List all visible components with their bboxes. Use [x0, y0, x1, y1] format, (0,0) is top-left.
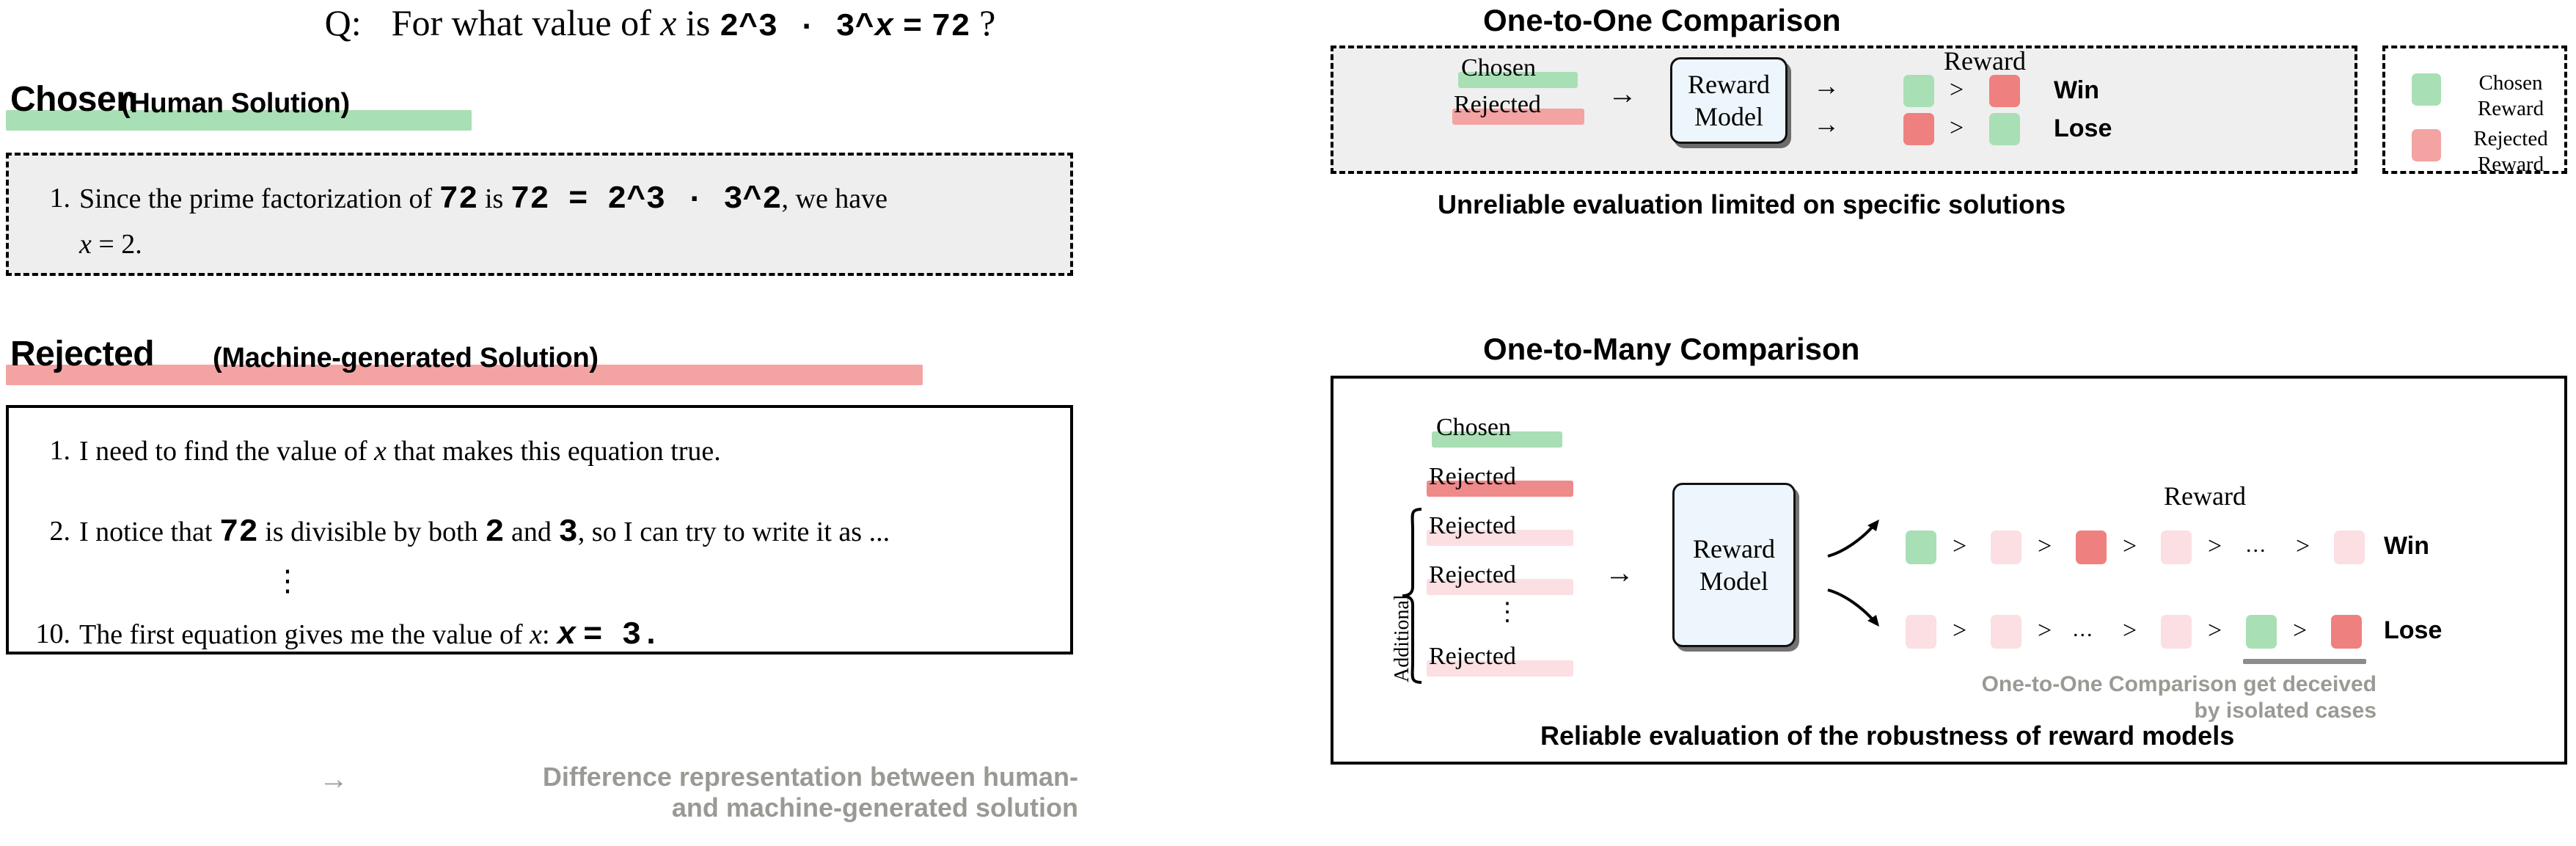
legend-chosen-line-2: Reward: [2456, 96, 2566, 122]
o2m-rejected-label-3: Rejected: [1429, 561, 1516, 589]
o2o-input-arrow-icon: →: [1608, 76, 1637, 111]
rejected-heading: Rejected: [10, 334, 154, 374]
o2m-lose-operator-4: >: [2208, 617, 2222, 645]
rejected-step-line-10: The first equation gives me the value of…: [79, 618, 661, 652]
rejected-step-number-2: 2.: [26, 515, 70, 547]
difference-note: Difference representation between human-…: [345, 762, 1078, 823]
rejected-step10-colon: :: [542, 619, 550, 650]
chosen-step-text-b: is: [485, 183, 503, 214]
legend-rejected-swatch: [2412, 129, 2441, 161]
rejected-step10-variable-2: x: [557, 617, 576, 654]
o2o-reward-model-box: Reward Model: [1670, 57, 1788, 144]
rejected-step1-text-a: I need to find the value of: [79, 436, 367, 467]
chosen-step-tt-1: 72: [439, 181, 478, 218]
o2m-win-swatch-2: [1991, 530, 2021, 564]
o2o-reward-model-line-1: Reward: [1688, 68, 1770, 101]
chosen-step-line-2: x = 2.: [79, 227, 142, 261]
o2o-win-arrow-icon: →: [1813, 70, 1840, 101]
o2m-win-operator-5: >: [2296, 533, 2310, 561]
rejected-step2-text-d: , so I can try to write it as ...: [578, 517, 890, 547]
o2o-win-chosen-swatch: [1903, 75, 1934, 107]
o2m-rejected-label-1: Rejected: [1429, 463, 1516, 491]
one-to-many-title: One-to-Many Comparison: [1483, 332, 1859, 367]
o2m-win-swatch-6: [2334, 530, 2365, 564]
o2m-lose-operator-1: >: [1953, 617, 1966, 645]
rejected-step10-variable: x: [530, 619, 542, 650]
o2m-rejected-label-2: Rejected: [1429, 512, 1516, 540]
difference-arrow-icon: →: [319, 763, 348, 796]
legend-rejected-line-1: Rejected: [2456, 126, 2566, 152]
rejected-step2-text-a: I notice that: [79, 517, 212, 547]
one-to-one-caption: Unreliable evaluation limited on specifi…: [1438, 189, 2065, 220]
right-panel: One-to-One Comparison Chosen Rejected → …: [1320, 0, 2576, 846]
chosen-step-line-1: Since the prime factorization of 72 is 7…: [79, 182, 888, 216]
chosen-step-text-a: Since the prime factorization of: [79, 183, 432, 214]
one-to-many-caption: Reliable evaluation of the robustness of…: [1540, 721, 2234, 751]
o2m-input-arrow-icon: →: [1605, 555, 1634, 590]
o2o-lose-arrow-icon: →: [1813, 109, 1840, 139]
rejected-step-number-1: 1.: [26, 434, 70, 467]
o2o-reward-model-line-2: Model: [1694, 101, 1763, 133]
o2m-rejected-label-4: Rejected: [1429, 643, 1516, 671]
o2m-lose-swatch-6: [2331, 615, 2362, 649]
o2m-lose-operator-5: >: [2293, 617, 2307, 645]
legend-rejected-line-2: Reward: [2456, 152, 2566, 178]
o2o-reward-title: Reward: [1944, 45, 2026, 76]
rejected-step2-text-c: and: [511, 517, 552, 547]
o2o-win-operator: >: [1950, 76, 1964, 104]
rejected-step10-value: = 3.: [583, 617, 661, 654]
o2o-lose-rejected-swatch: [1903, 113, 1934, 145]
o2m-inputs-ellipsis: ⋮: [1495, 600, 1520, 625]
rejected-step-line-1: I need to find the value of x that makes…: [79, 434, 721, 468]
rejected-steps-ellipsis: ⋮: [273, 566, 302, 596]
legend-rejected-label: Rejected Reward: [2456, 126, 2566, 178]
o2m-win-operator-4: >: [2208, 533, 2222, 561]
o2m-reward-model-line-2: Model: [1699, 565, 1768, 597]
question-qmark: ?: [979, 2, 995, 43]
one-to-one-title: One-to-One Comparison: [1483, 3, 1841, 38]
question-variable-2: x: [874, 9, 893, 45]
rejected-step1-text-b: that makes this equation true.: [393, 436, 720, 467]
chosen-step-text-c: , we have: [782, 183, 888, 214]
question-variable-1: x: [660, 2, 676, 43]
o2o-chosen-label: Chosen: [1461, 54, 1536, 82]
rejected-subheading: (Machine-generated Solution): [213, 343, 599, 374]
o2o-win-rejected-swatch: [1989, 75, 2020, 107]
o2m-lose-swatch-1: [1906, 615, 1936, 649]
o2m-win-swatch-3: [2076, 530, 2107, 564]
o2m-deceive-note-line-1: One-to-One Comparison get deceived: [1966, 671, 2376, 698]
o2m-reward-model-line-1: Reward: [1693, 533, 1775, 565]
chosen-heading: Chosen: [10, 79, 137, 120]
o2m-win-arrow-icon: [1825, 514, 1884, 559]
question-value: 72: [932, 9, 970, 45]
o2m-deceive-note: One-to-One Comparison get deceived by is…: [1966, 671, 2376, 724]
o2m-win-operator-2: >: [2038, 533, 2052, 561]
o2o-lose-operator: >: [1950, 114, 1964, 142]
legend-chosen-line-1: Chosen: [2456, 70, 2566, 96]
rejected-step2-tt-3: 3: [558, 514, 577, 551]
o2m-lose-swatch-4: [2161, 615, 2192, 649]
legend-chosen-swatch: [2412, 73, 2441, 106]
o2m-lose-outcome: Lose: [2384, 616, 2442, 645]
difference-note-line-2: and machine-generated solution: [345, 792, 1078, 823]
rejected-step-line-2: I notice that 72 is divisible by both 2 …: [79, 515, 890, 550]
question-expression: 2^3 · 3^: [720, 9, 874, 45]
question-equals: =: [903, 9, 922, 45]
o2o-win-outcome: Win: [2054, 76, 2099, 105]
chosen-step-number: 1.: [26, 182, 70, 214]
rejected-step2-text-b: is divisible by both: [265, 517, 477, 547]
figure-root: Q: For what value of x is 2^3 · 3^x = 72…: [0, 0, 2576, 846]
o2m-lose-swatch-2: [1991, 615, 2021, 649]
question-text-mid: is: [686, 2, 710, 43]
o2o-lose-outcome: Lose: [2054, 114, 2112, 143]
o2o-rejected-label: Rejected: [1454, 91, 1541, 119]
o2m-win-outcome: Win: [2384, 532, 2429, 561]
o2m-reward-model-box: Reward Model: [1672, 483, 1796, 647]
o2m-lose-operator-3: >: [2123, 617, 2137, 645]
o2m-lose-swatch-5: [2246, 615, 2277, 649]
rejected-step10-text-a: The first equation gives me the value of: [79, 619, 523, 650]
chosen-step-value: = 2.: [98, 229, 142, 260]
chosen-step-tt-2: 72 = 2^3 · 3^2: [511, 181, 782, 218]
rejected-step-number-10: 10.: [15, 618, 70, 650]
o2m-lose-ellipsis: ...: [2073, 617, 2094, 642]
legend-chosen-label: Chosen Reward: [2456, 70, 2566, 122]
difference-note-line-1: Difference representation between human-: [345, 762, 1078, 792]
o2m-deceive-underline: [2243, 659, 2366, 664]
chosen-subheading: (Human Solution): [121, 88, 350, 120]
o2m-lose-arrow-icon: [1825, 587, 1884, 632]
rejected-step2-tt-2: 2: [485, 514, 504, 551]
rejected-step1-variable: x: [374, 436, 387, 467]
o2m-win-swatch-4: [2161, 530, 2192, 564]
o2m-win-swatch-1: [1906, 530, 1936, 564]
chosen-step-variable: x: [79, 229, 92, 260]
o2m-win-ellipsis: ...: [2246, 533, 2267, 558]
o2m-win-operator-3: >: [2123, 533, 2137, 561]
rejected-step2-tt-1: 72: [219, 514, 258, 551]
o2m-lose-operator-2: >: [2038, 617, 2052, 645]
question-text-before: For what value of: [392, 2, 651, 43]
question-line: Q: For what value of x is 2^3 · 3^x = 72…: [0, 1, 1320, 48]
o2m-reward-title: Reward: [2164, 481, 2246, 511]
o2m-additional-label: Additional: [1391, 594, 1414, 682]
question-label: Q:: [325, 2, 362, 43]
o2m-win-operator-1: >: [1953, 533, 1966, 561]
o2o-lose-chosen-swatch: [1989, 113, 2020, 145]
o2m-chosen-label: Chosen: [1436, 414, 1511, 442]
left-panel: Q: For what value of x is 2^3 · 3^x = 72…: [0, 0, 1320, 846]
